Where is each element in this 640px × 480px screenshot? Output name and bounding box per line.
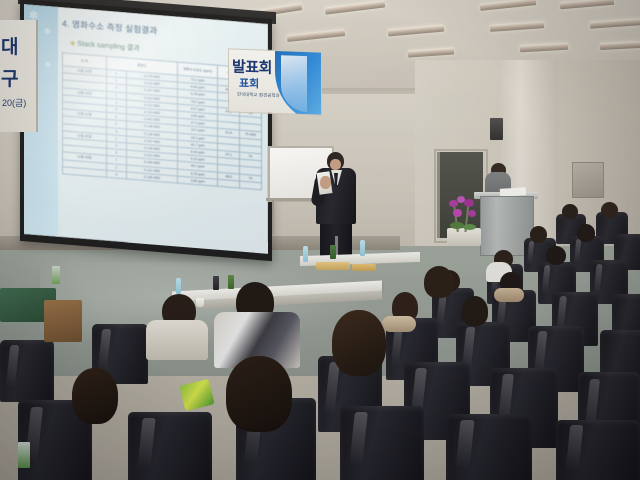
water-bottle: [176, 278, 181, 294]
drink-can: [228, 275, 234, 289]
audience-head: [332, 310, 386, 376]
seat: [0, 340, 54, 402]
left-banner-line3: 20(금): [2, 96, 26, 109]
cell-time: [240, 181, 262, 190]
orchid-petal: [453, 209, 462, 217]
wall-speaker: [490, 118, 503, 140]
snack-plate: [316, 262, 350, 270]
paper-cup: [196, 298, 204, 307]
drink-can: [18, 442, 30, 468]
seat: [128, 412, 212, 480]
orchid-leaf: [463, 224, 476, 230]
audience-fur-hood: [382, 316, 416, 332]
lecture-hall-photo: ✼ ✼ ❉ ✼ ✽ 4. 염화수소 측정 실험결과 ◈Stack samplin…: [0, 0, 640, 480]
whiteboard-leg: [272, 200, 274, 234]
snack-bag: [179, 379, 214, 411]
wood-panel: [44, 300, 82, 342]
snack-plate: [352, 264, 376, 271]
left-banner: 대 구 20(금): [0, 20, 38, 132]
orchid-leaf: [450, 222, 464, 229]
audience-head: [601, 202, 618, 218]
projection-screen-frame: ✼ ✼ ❉ ✼ ✽ 4. 염화수소 측정 실험결과 ◈Stack samplin…: [20, 0, 272, 261]
cell-percent: [218, 179, 240, 188]
audience-head: [424, 266, 454, 298]
left-banner-line1: 대: [1, 32, 18, 59]
audience-torso: [146, 320, 208, 360]
slide-bullet-text: Stack sampling 결과: [77, 40, 139, 52]
banner-swoosh-highlight: [281, 55, 307, 112]
audience-head: [462, 296, 488, 326]
seat: [556, 420, 640, 480]
water-bottle: [303, 246, 308, 262]
snowflake-icon: ✼: [45, 62, 51, 69]
audience-head: [562, 204, 578, 219]
event-banner: 발표회 표회 한국대학교 환경공학과: [228, 48, 322, 115]
projected-slide: ✼ ✼ ❉ ✼ ✽ 4. 염화수소 측정 실험결과 ◈Stack samplin…: [24, 4, 268, 254]
orchid-petal: [464, 199, 474, 207]
seat: [446, 414, 532, 480]
seat: [340, 406, 424, 480]
orchid-petal: [468, 210, 476, 217]
bullet-marker-icon: ◈: [70, 40, 75, 47]
slide-bullet: ◈Stack sampling 결과: [70, 38, 140, 54]
drink-can: [330, 245, 336, 259]
banner-subline: 표회: [239, 75, 259, 92]
cell-index: 3: [106, 170, 126, 179]
drink-can: [52, 266, 60, 284]
water-bottle: [360, 240, 365, 256]
audience-head: [546, 246, 566, 265]
projection-screen-surface: ✼ ✼ ❉ ✼ ✽ 4. 염화수소 측정 실험결과 ◈Stack samplin…: [24, 4, 268, 254]
wall-panel: [572, 162, 604, 198]
drink-can: [213, 276, 219, 290]
audience-head: [226, 356, 292, 432]
audience-fur-hood: [494, 288, 524, 302]
banner-footnote: 한국대학교 환경공학과: [237, 92, 280, 99]
audience-head: [72, 368, 118, 424]
slide-title: 4. 염화수소 측정 실험결과: [62, 17, 157, 37]
audience-head: [577, 224, 595, 242]
snowflake-icon: ✼: [44, 28, 51, 37]
left-banner-line2: 구: [1, 64, 18, 91]
audience-head: [530, 226, 547, 243]
presenter-hand: [320, 176, 331, 189]
presenter-face: [330, 159, 341, 170]
